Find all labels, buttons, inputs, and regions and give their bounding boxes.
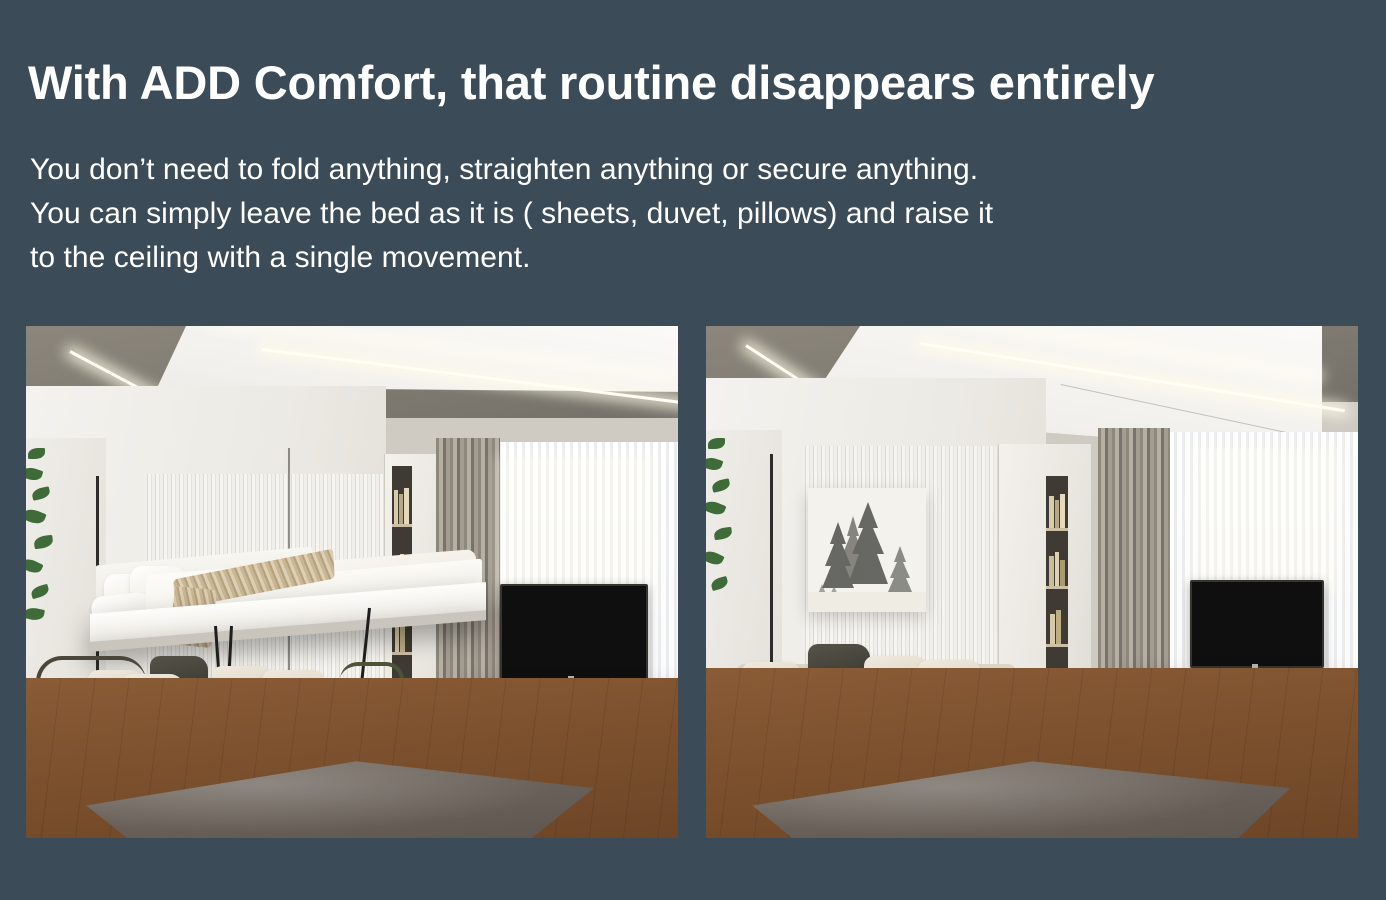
plant-leaf bbox=[706, 499, 726, 518]
plant-leaf bbox=[706, 548, 725, 568]
body-line-2: You can simply leave the bed as it is ( … bbox=[30, 192, 1350, 236]
book bbox=[1055, 500, 1059, 528]
scene-bed-raised bbox=[706, 326, 1358, 838]
book bbox=[1060, 494, 1065, 528]
slide-root: With ADD Comfort, that routine disappear… bbox=[0, 0, 1386, 900]
plant-leaf bbox=[28, 448, 45, 459]
television bbox=[1190, 580, 1324, 668]
hanging-plant bbox=[26, 444, 62, 634]
shelf-divider bbox=[1046, 586, 1068, 589]
television bbox=[500, 584, 648, 680]
scene-bed-lowered bbox=[26, 326, 678, 838]
book bbox=[1049, 556, 1054, 586]
shelf-divider bbox=[1046, 528, 1068, 531]
plant-leaf bbox=[706, 455, 723, 472]
plant-leaf bbox=[26, 506, 47, 526]
plant-leaf bbox=[33, 535, 53, 550]
hanging-plant bbox=[706, 436, 740, 616]
body-copy: You don’t need to fold anything, straigh… bbox=[30, 148, 1350, 280]
plant-leaf bbox=[710, 576, 729, 591]
book bbox=[404, 488, 409, 524]
plant-leaf bbox=[713, 527, 732, 540]
book bbox=[394, 490, 398, 524]
plant-leaf bbox=[26, 465, 43, 483]
plant-leaf bbox=[26, 556, 44, 576]
plant-leaf bbox=[31, 486, 51, 501]
shelf-divider bbox=[392, 524, 412, 527]
page-title: With ADD Comfort, that routine disappear… bbox=[28, 58, 1368, 109]
book bbox=[1050, 614, 1055, 644]
wall-artwork-pine-trees bbox=[808, 488, 926, 612]
body-line-1: You don’t need to fold anything, straigh… bbox=[30, 148, 1350, 192]
book bbox=[399, 494, 403, 524]
image-gallery bbox=[26, 326, 1360, 838]
shelf-divider bbox=[1046, 644, 1068, 647]
plant-leaf bbox=[26, 606, 45, 622]
pine-tree-illustration bbox=[808, 488, 926, 612]
room-photo-bed-raised[interactable] bbox=[706, 326, 1358, 838]
window-light-bloom bbox=[1192, 446, 1342, 596]
book bbox=[1055, 552, 1059, 586]
plant-leaf bbox=[30, 584, 50, 600]
book bbox=[1060, 560, 1065, 586]
book bbox=[1056, 610, 1061, 644]
plant-leaf bbox=[711, 478, 731, 493]
body-line-3: to the ceiling with a single movement. bbox=[30, 236, 1350, 280]
book bbox=[1049, 496, 1054, 528]
room-photo-bed-lowered[interactable] bbox=[26, 326, 678, 838]
plant-leaf bbox=[708, 438, 725, 449]
shelf-divider bbox=[392, 652, 412, 655]
